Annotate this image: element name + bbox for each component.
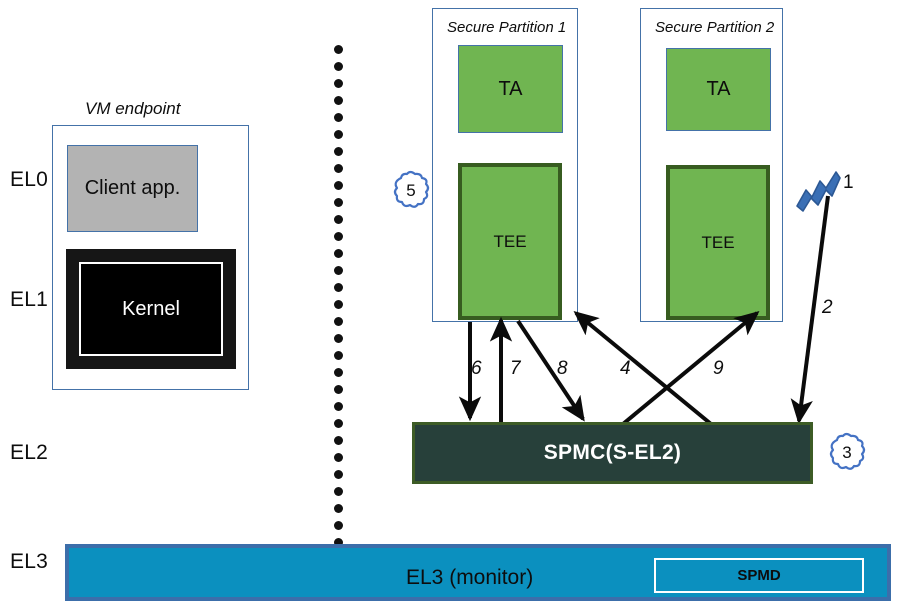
arrow-label-8: 8 [557,358,568,380]
event-marker-label-1: 1 [843,172,854,194]
arrow-label-4: 4 [620,358,631,380]
diagram-canvas: EL0 EL1 EL2 EL3 VM endpoint Client app. … [0,0,902,608]
flow-arrows-layer [0,0,902,608]
arrow-label-7: 7 [510,358,521,380]
cloud-marker-5: 5 [388,168,434,214]
arrow-label-6: 6 [471,358,482,380]
spmc-box[interactable]: SPMC(S-EL2) [412,422,813,484]
cloud-marker-3: 3 [824,430,870,476]
el3-monitor-bar: EL3 (monitor) SPMD [65,544,891,601]
cloud-marker-5-label: 5 [388,168,434,214]
arrow-label-9: 9 [713,358,724,380]
arrow-label-2: 2 [822,297,833,319]
el3-monitor-label: EL3 (monitor) [406,566,533,590]
arrow-8 [518,321,583,419]
lightning-bolt-icon [797,172,840,211]
cloud-marker-3-label: 3 [824,430,870,476]
spmd-box[interactable]: SPMD [654,558,864,593]
